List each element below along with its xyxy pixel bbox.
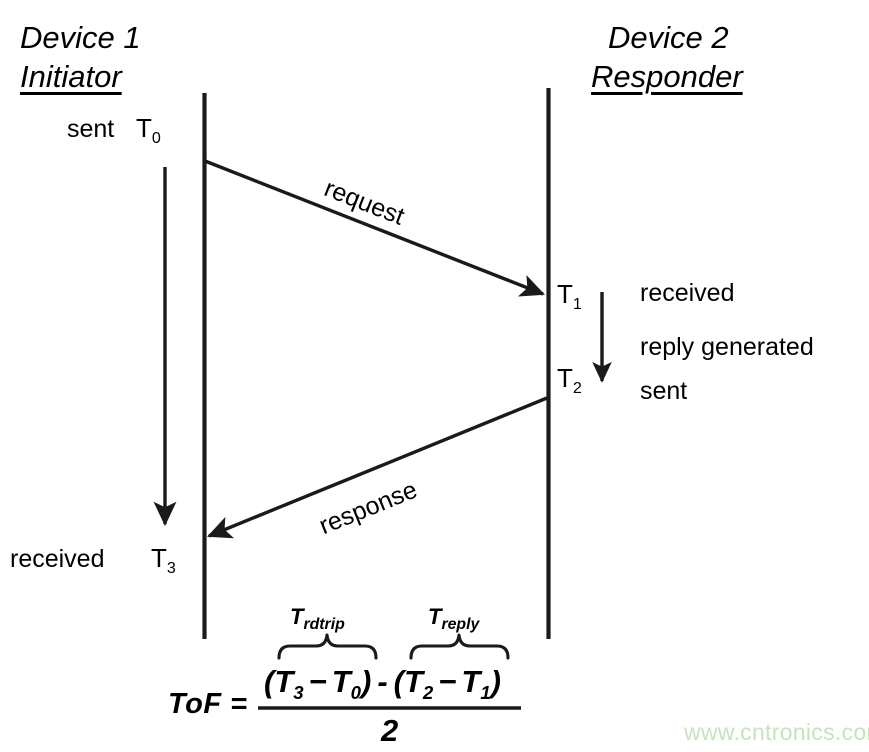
numerator-paren-open-b: ( [394,664,404,699]
numerator-t0: T [332,664,351,699]
numerator-t3: T [274,664,293,699]
brace-reply [411,635,508,658]
numerator-minus-b: − [433,664,461,699]
brace-label-reply-sub: reply [441,616,479,633]
formula-numerator: (T3−T0)-(T2−T1) [264,666,501,697]
timestamp-t2: T2 [557,365,582,391]
timestamp-t3: T3 [151,545,176,571]
device-2-role: Responder [591,61,743,92]
brace-label-reply-base: T [428,604,441,629]
device-1-role: Initiator [20,61,122,92]
event-label-reply-generated: reply generated [640,335,814,360]
brace-label-roundtrip: Trdtrip [290,606,345,628]
numerator-operator: - [371,664,393,699]
formula-lhs: ToF = [168,690,248,719]
timestamp-t1-base: T [557,279,573,309]
event-label-received-t3: received [10,547,105,572]
numerator-t2-sub: 2 [423,682,433,703]
event-label-sent-t0: sent [67,117,114,142]
device-2-title: Device 2 [608,22,729,53]
numerator-t1: T [461,664,480,699]
timestamp-t0-index: 0 [152,129,161,147]
numerator-paren-open-a: ( [264,664,274,699]
brace-roundtrip [279,635,376,658]
event-label-sent-t2: sent [640,379,687,404]
numerator-t2: T [404,664,423,699]
formula-denominator: 2 [381,715,398,746]
timestamp-t2-index: 2 [573,379,582,397]
numerator-minus-a: − [304,664,332,699]
numerator-paren-close-a: ) [361,664,371,699]
numerator-t1-sub: 1 [480,682,490,703]
numerator-t3-sub: 3 [293,682,303,703]
timestamp-t3-index: 3 [167,559,176,577]
brace-label-roundtrip-base: T [290,604,303,629]
watermark: www.cntronics.com [684,721,869,744]
numerator-paren-close-b: ) [491,664,501,699]
brace-label-roundtrip-sub: rdtrip [303,616,344,633]
timestamp-t0: T0 [136,115,161,141]
message-arrow-request [205,161,543,294]
timestamp-t3-base: T [151,543,167,573]
timestamp-t1-index: 1 [573,295,582,313]
device-1-title: Device 1 [20,22,141,53]
timestamp-t1: T1 [557,281,582,307]
diagram-canvas: Device 1 Initiator Device 2 Responder se… [0,0,869,752]
timestamp-t0-base: T [136,113,152,143]
event-label-received-t1: received [640,281,735,306]
sequence-diagram-graphics [0,0,869,752]
timestamp-t2-base: T [557,363,573,393]
numerator-t0-sub: 0 [351,682,361,703]
brace-label-reply: Treply [428,606,479,628]
